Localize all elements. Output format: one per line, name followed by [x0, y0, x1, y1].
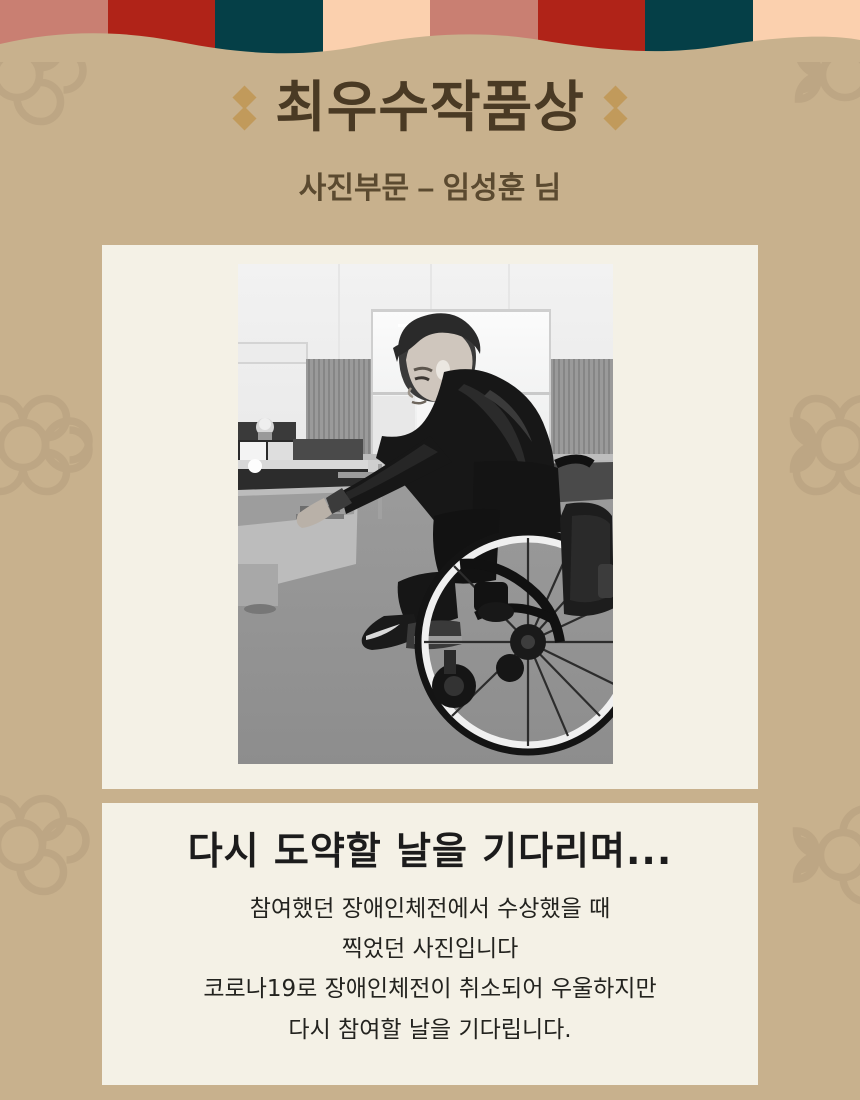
page-title: 최우수작품상: [275, 76, 585, 139]
title-row: 최우수작품상: [0, 76, 860, 139]
cloud-flower-motif-left-bottom: [0, 770, 95, 920]
cloud-flower-motif-left-middle: [0, 370, 98, 520]
award-photo-image: 0: [238, 264, 613, 764]
award-message-card: 다시 도약할 날을 기다리며... 참여했던 장애인체전에서 수상했을 때 찍었…: [102, 803, 758, 1085]
diamond-ornament-left-icon: [236, 89, 253, 127]
message-body: 참여했던 장애인체전에서 수상했을 때 찍었던 사진입니다 코로나19로 장애인…: [102, 893, 758, 1047]
award-poster: 최우수작품상 사진부문 – 임성훈 님: [0, 0, 860, 1100]
banner-wave-edge: [0, 28, 860, 62]
award-photo-card: 0: [102, 245, 758, 789]
award-subtitle: 사진부문 – 임성훈 님: [0, 163, 860, 207]
cloud-flower-motif-right-middle: [765, 370, 860, 520]
poster-header: 최우수작품상 사진부문 – 임성훈 님: [0, 62, 860, 207]
cloud-flower-motif-right-bottom: [768, 780, 860, 930]
message-line-2: 찍었던 사진입니다: [102, 933, 758, 966]
award-photo: 0: [238, 264, 613, 764]
top-color-stripe-banner: [0, 0, 860, 62]
message-line-4: 다시 참여할 날을 기다립니다.: [102, 1014, 758, 1047]
message-headline: 다시 도약할 날을 기다리며...: [102, 829, 758, 875]
message-line-1: 참여했던 장애인체전에서 수상했을 때: [102, 893, 758, 926]
message-line-3: 코로나19로 장애인체전이 취소되어 우울하지만: [102, 973, 758, 1006]
diamond-ornament-right-icon: [607, 89, 624, 127]
